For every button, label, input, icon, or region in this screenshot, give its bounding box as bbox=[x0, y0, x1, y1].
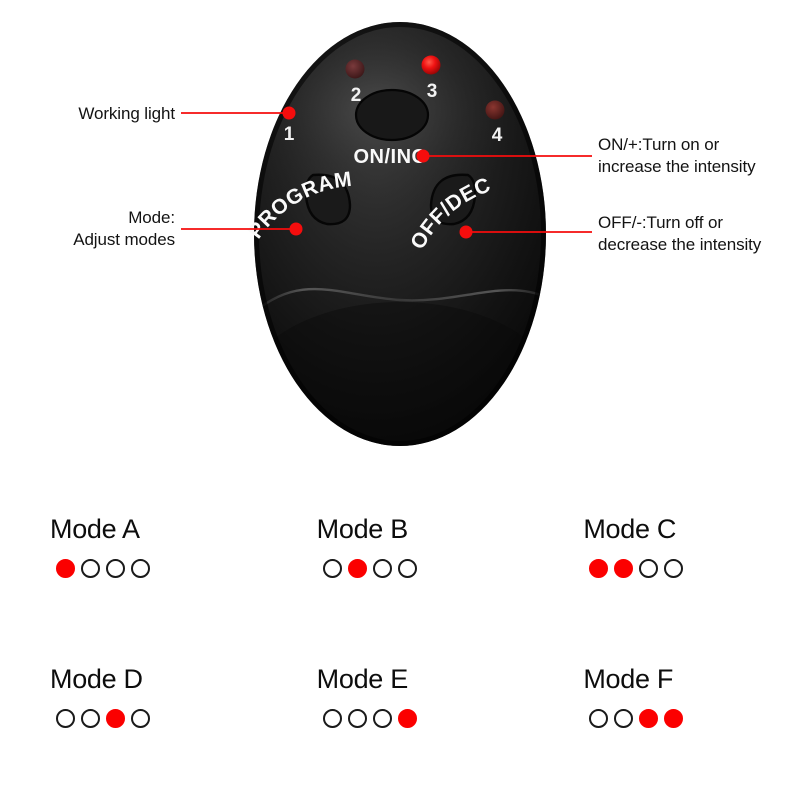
callout-label-working-light: Working light bbox=[10, 103, 175, 125]
mode-indicator-row bbox=[317, 559, 534, 578]
device-diagram: 2 3 1 4 ON/INC PROGRAM OFF/DEC bbox=[0, 0, 800, 500]
mode-title: Mode C bbox=[583, 514, 800, 545]
mode-indicator-dot bbox=[348, 559, 367, 578]
mode-indicator-dot bbox=[398, 709, 417, 728]
mode-indicator-dot bbox=[614, 559, 633, 578]
mode-indicator-dot bbox=[81, 709, 100, 728]
mode-indicator-dot bbox=[131, 709, 150, 728]
mode-indicator-dot bbox=[81, 559, 100, 578]
mode-indicator-row bbox=[50, 709, 267, 728]
mode-indicator-dot bbox=[56, 559, 75, 578]
mode-cell-c: Mode C bbox=[533, 500, 800, 650]
mode-cell-b: Mode B bbox=[267, 500, 534, 650]
mode-indicator-row bbox=[50, 559, 267, 578]
callout-label-off-dec: OFF/-:Turn off or decrease the intensity bbox=[598, 212, 798, 256]
led-number-4: 4 bbox=[492, 125, 503, 146]
mode-title: Mode D bbox=[50, 664, 267, 695]
mode-title: Mode A bbox=[50, 514, 267, 545]
mode-cell-d: Mode D bbox=[0, 650, 267, 800]
mode-indicator-row bbox=[583, 709, 800, 728]
mode-indicator-dot bbox=[639, 709, 658, 728]
mode-title: Mode E bbox=[317, 664, 534, 695]
mode-indicator-dot bbox=[106, 559, 125, 578]
leader-dot-on-inc bbox=[417, 150, 430, 163]
program-oval-button[interactable] bbox=[356, 90, 428, 140]
callout-label-on-inc: ON/+:Turn on or increase the intensity bbox=[598, 134, 798, 178]
mode-indicator-dot bbox=[106, 709, 125, 728]
mode-indicator-dot bbox=[639, 559, 658, 578]
mode-cell-e: Mode E bbox=[267, 650, 534, 800]
mode-indicator-dot bbox=[373, 709, 392, 728]
mode-indicator-dot bbox=[664, 559, 683, 578]
on-inc-panel-label: ON/INC bbox=[354, 146, 427, 168]
led-number-3: 3 bbox=[427, 81, 438, 102]
mode-indicator-dot bbox=[589, 709, 608, 728]
device-body bbox=[228, 3, 560, 494]
mode-indicator-dot bbox=[348, 709, 367, 728]
leader-dot-working-light bbox=[283, 107, 296, 120]
mode-title: Mode F bbox=[583, 664, 800, 695]
leader-dot-mode bbox=[290, 223, 303, 236]
led-indicator-3 bbox=[422, 56, 441, 75]
led-indicator-2 bbox=[346, 60, 365, 79]
led-number-1: 1 bbox=[284, 124, 295, 145]
mode-indicator-row bbox=[317, 709, 534, 728]
mode-indicator-row bbox=[583, 559, 800, 578]
mode-cell-f: Mode F bbox=[533, 650, 800, 800]
mode-indicator-dot bbox=[131, 559, 150, 578]
mode-indicator-dot bbox=[323, 709, 342, 728]
leader-dot-off-dec bbox=[460, 226, 473, 239]
mode-indicator-dot bbox=[398, 559, 417, 578]
mode-legend-grid: Mode A Mode B Mode C Mode D bbox=[0, 500, 800, 800]
callout-label-mode: Mode: Adjust modes bbox=[10, 207, 175, 251]
mode-indicator-dot bbox=[323, 559, 342, 578]
mode-indicator-dot bbox=[373, 559, 392, 578]
mode-indicator-dot bbox=[56, 709, 75, 728]
led-indicator-4 bbox=[486, 101, 505, 120]
mode-indicator-dot bbox=[589, 559, 608, 578]
mode-indicator-dot bbox=[614, 709, 633, 728]
mode-indicator-dot bbox=[664, 709, 683, 728]
mode-title: Mode B bbox=[317, 514, 534, 545]
mode-cell-a: Mode A bbox=[0, 500, 267, 650]
